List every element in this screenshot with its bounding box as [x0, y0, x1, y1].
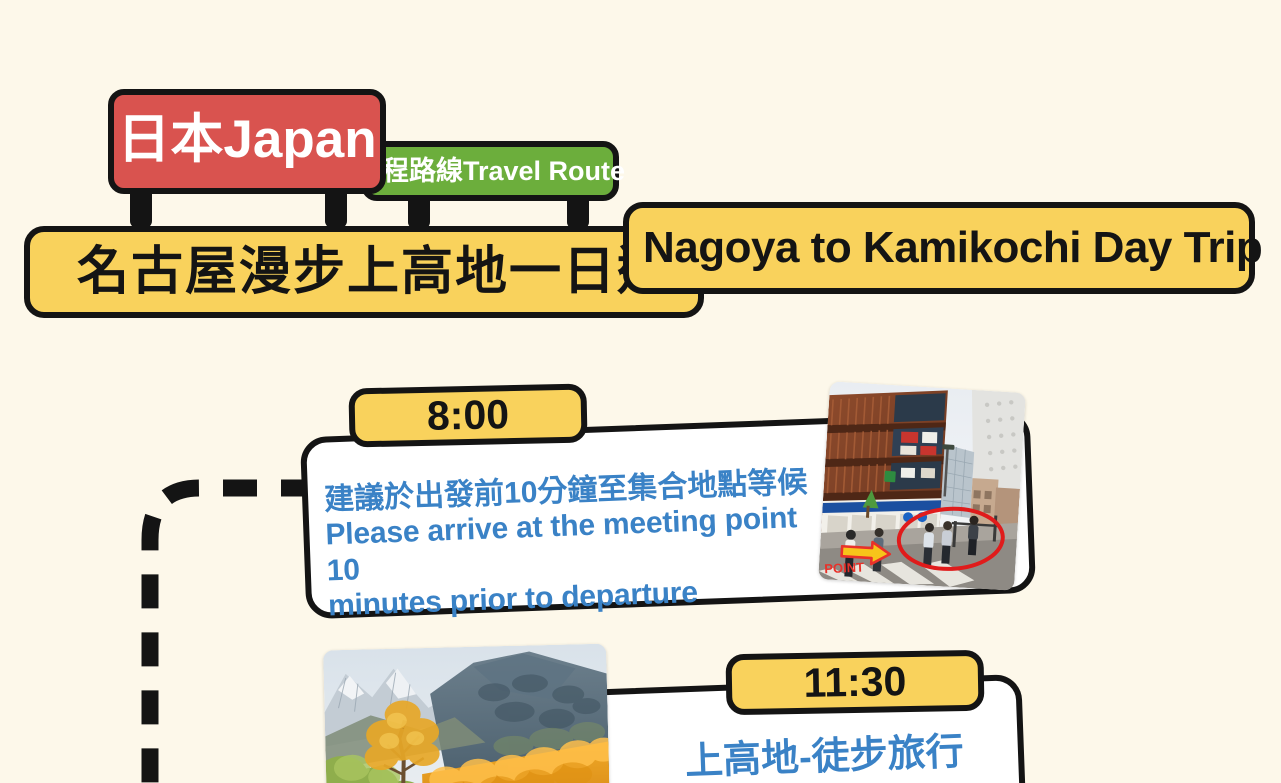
timeline-card-1130-text-zh: 上高地-徒步旅行 [684, 728, 1008, 783]
travel-itinerary-poster: 日本Japan 行程路線Travel Route 名古屋漫步上高地一日遊 Nag… [0, 0, 1281, 783]
timeline-card-1130-body: 上高地-徒步旅行 [684, 728, 1008, 783]
time-badge-0800-label: 8:00 [427, 394, 510, 437]
time-badge-1130-label: 11:30 [803, 661, 906, 704]
country-sign-japan: 日本Japan [108, 89, 386, 194]
time-badge-1130: 11:30 [725, 650, 984, 715]
meeting-point-street-photo: POINT [818, 381, 1026, 591]
page-title-zh: 名古屋漫步上高地一日遊 [77, 246, 671, 298]
page-title-en: Nagoya to Kamikochi Day Trip [643, 226, 1262, 270]
svg-text:POINT: POINT [824, 559, 864, 576]
country-sign-label: 日本Japan [117, 113, 376, 166]
route-sign-label: 行程路線Travel Route [355, 158, 625, 185]
title-banner-chinese: 名古屋漫步上高地一日遊 [24, 226, 704, 318]
kamikochi-autumn-photo [323, 644, 610, 783]
route-sign-travel-route: 行程路線Travel Route [361, 141, 619, 201]
timeline-card-0800-body: 建議於出發前10分鐘至集合地點等候 Please arrive at the m… [324, 464, 831, 624]
title-banner-english: Nagoya to Kamikochi Day Trip [623, 202, 1255, 294]
time-badge-0800: 8:00 [348, 384, 587, 448]
